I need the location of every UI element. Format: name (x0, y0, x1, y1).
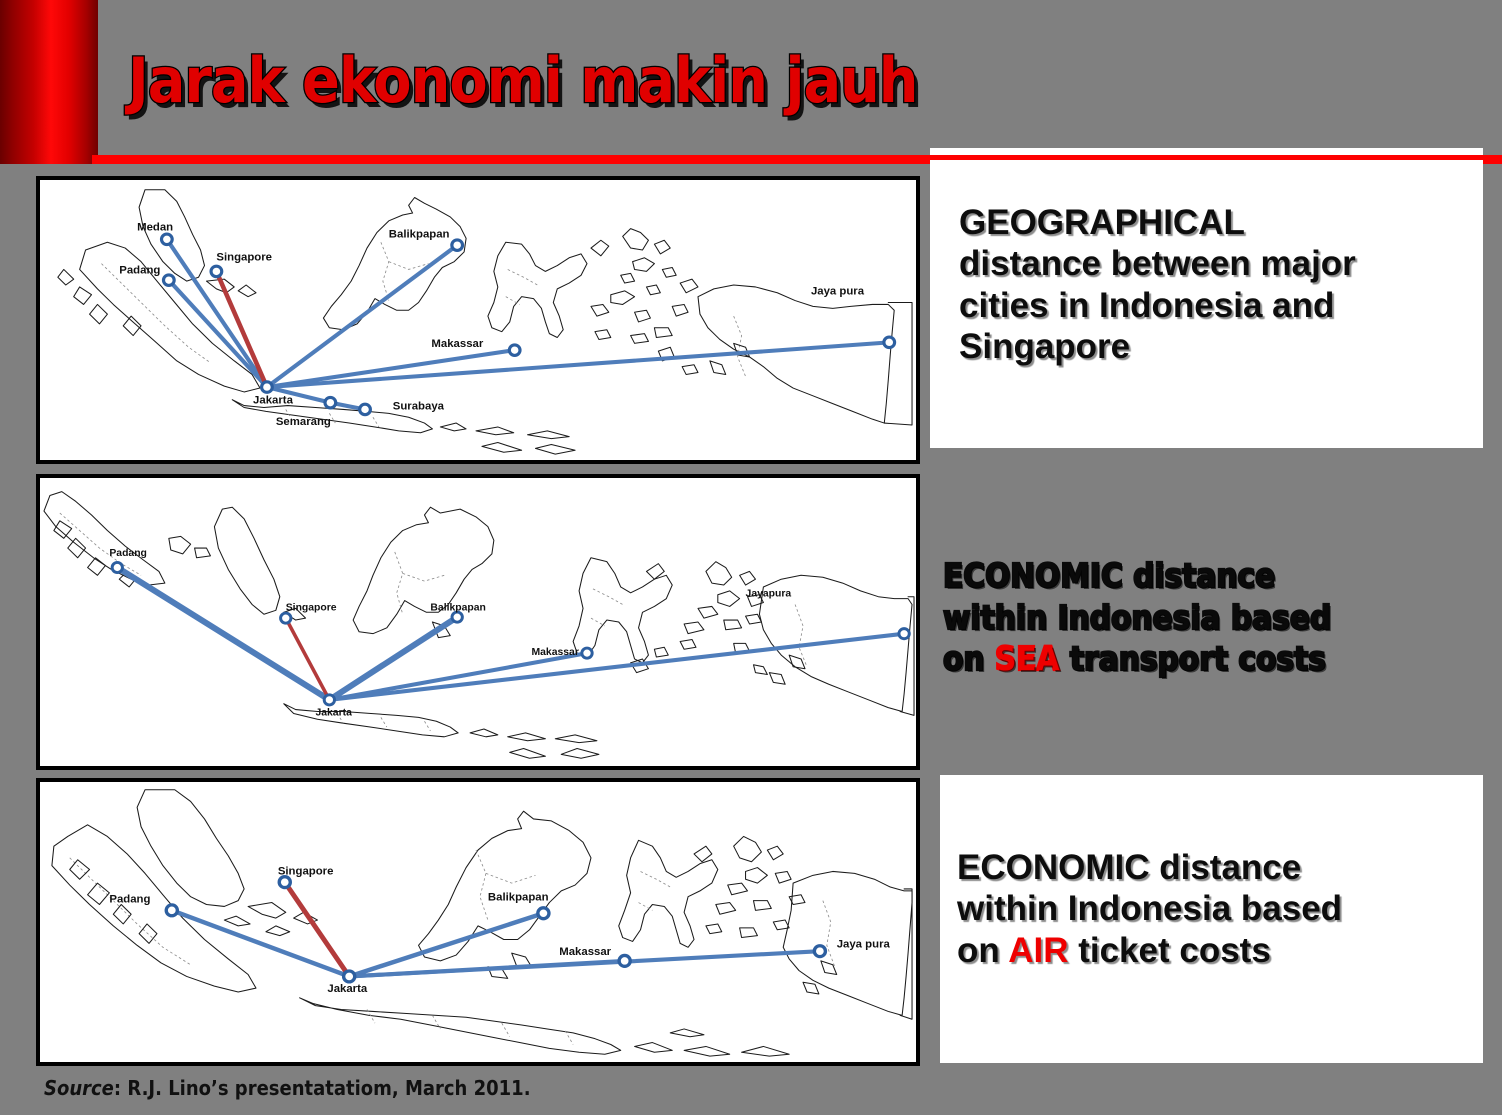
caption-prefix: on (943, 639, 995, 678)
highlight-word-sea: SEA (995, 639, 1060, 678)
caption-prefix: on (957, 931, 1008, 970)
city-markers (112, 562, 909, 704)
map-panel-economic-air[interactable]: Singapore Padang Balikpapan Makassar Jay… (36, 778, 920, 1066)
city-label-makassar: Makassar (532, 647, 579, 658)
city-label-jayapura: Jayapura (746, 589, 792, 600)
city-label-surabaya: Surabaya (393, 401, 445, 413)
caption-economic-air: ECONOMIC distance within Indonesia based… (957, 847, 1457, 971)
city-label-balikpapan: Balikpapan (389, 228, 450, 240)
city-label-padang: Padang (119, 264, 160, 276)
caption-line: distance between major (959, 243, 1459, 284)
city-label-jakarta: Jakarta (253, 395, 294, 407)
city-label-padang: Padang (109, 894, 150, 906)
source-citation: Source: R.J. Lino’s presentatatiom, Marc… (44, 1076, 531, 1100)
map-economic-air: Singapore Padang Balikpapan Makassar Jay… (40, 782, 916, 1062)
caption-line: ECONOMIC distance (957, 847, 1457, 888)
slide-header: Jarak ekonomi makin jauh (0, 0, 1502, 168)
city-label-jakarta: Jakarta (327, 983, 368, 995)
city-label-makassar: Makassar (431, 338, 483, 350)
city-label-jayapura: Jaya pura (811, 286, 865, 298)
map-panel-economic-sea[interactable]: Padang Singapore Balikpapan Makassar Jay… (36, 474, 920, 770)
city-label-balikpapan: Balikpapan (488, 892, 549, 904)
city-label-padang: Padang (109, 548, 147, 559)
map-geographical: Medan Singapore Padang Balikpapan Makass… (40, 180, 916, 460)
caption-line: within Indonesia based (957, 888, 1457, 929)
page-title: Jarak ekonomi makin jauh (128, 44, 918, 117)
caption-line: ECONOMIC distance (943, 555, 1463, 597)
city-label-singapore: Singapore (286, 602, 337, 613)
city-label-jayapura: Jaya pura (837, 938, 891, 950)
red-gradient-bar (0, 0, 98, 164)
city-label-balikpapan: Balikpapan (430, 602, 485, 613)
city-label-semarang: Semarang (276, 416, 331, 428)
city-label-singapore: Singapore (216, 252, 272, 264)
map-panel-geographical[interactable]: Medan Singapore Padang Balikpapan Makass… (36, 176, 920, 464)
caption-suffix: transport costs (1060, 639, 1326, 678)
caption-line: Singapore (959, 326, 1459, 367)
source-text: : R.J. Lino’s presentatatiom, March 2011… (114, 1076, 531, 1100)
city-label-medan: Medan (137, 222, 173, 234)
caption-line-highlighted: on AIR ticket costs (957, 930, 1457, 971)
caption-line: cities in Indonesia and (959, 285, 1459, 326)
city-label-jakarta: Jakarta (315, 707, 352, 718)
highlight-word-air: AIR (1008, 931, 1068, 970)
city-label-makassar: Makassar (559, 946, 611, 958)
source-label: Source (44, 1076, 114, 1100)
caption-line-highlighted: on SEA transport costs (943, 638, 1463, 680)
caption-geographical: GEOGRAPHICAL distance between major citi… (959, 202, 1459, 367)
caption-line: GEOGRAPHICAL (959, 202, 1459, 243)
caption-line: within Indonesia based (943, 597, 1463, 639)
caption-suffix: ticket costs (1068, 931, 1270, 970)
caption-economic-sea: ECONOMIC distance within Indonesia based… (943, 555, 1463, 680)
map-economic-sea: Padang Singapore Balikpapan Makassar Jay… (40, 478, 916, 766)
city-label-singapore: Singapore (278, 865, 334, 877)
